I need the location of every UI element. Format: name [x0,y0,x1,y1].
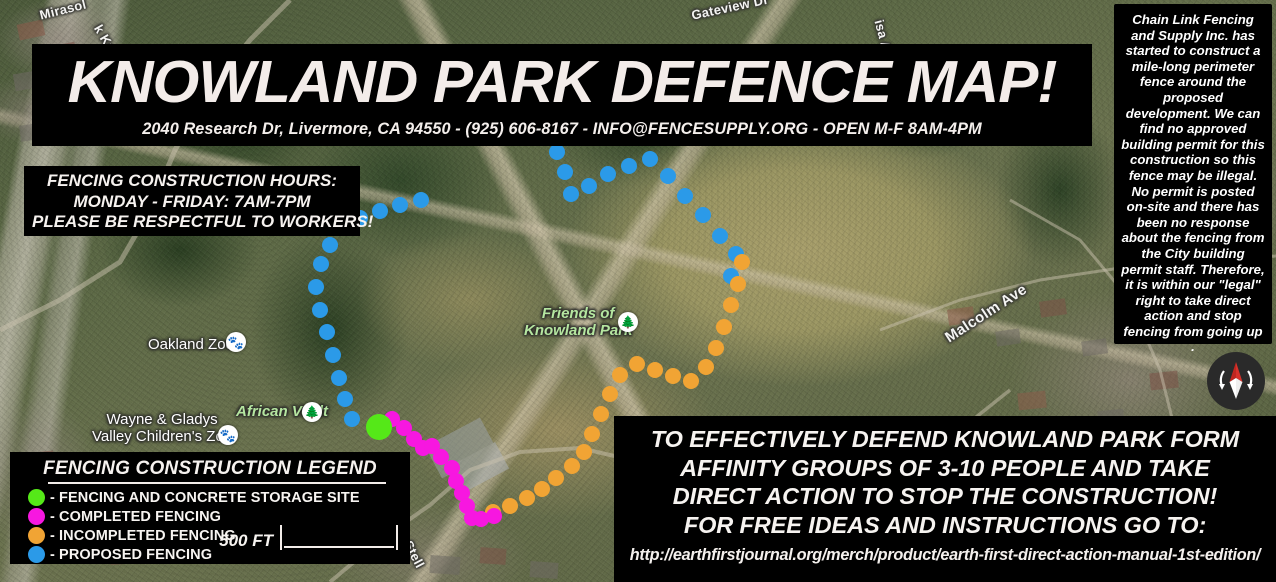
incompleted-fence-dot [716,319,732,335]
title-panel: KNOWLAND PARK DEFENCE MAP! 2040 Research… [32,44,1092,146]
permit-notice-panel: Chain Link Fencing and Supply Inc. has s… [1114,4,1272,344]
incompleted-fence-dot [730,276,746,292]
contact-subtitle: 2040 Research Dr, Livermore, CA 94550 - … [54,119,1071,139]
incompleted-fence-dot [519,490,535,506]
proposed-fence-dot [319,324,335,340]
call-to-action-panel: TO EFFECTIVELY DEFEND KNOWLAND PARK FORM… [614,416,1276,582]
proposed-fence-dot [712,228,728,244]
incompleted-fence-dot [629,356,645,372]
legend-title: FENCING CONSTRUCTION LEGEND [20,458,400,480]
proposed-fence-dot [313,256,329,272]
legend-divider [48,482,386,484]
proposed-fence-dot [392,197,408,213]
incompleted-fence-dot [584,426,600,442]
legend-item-proposed: - PROPOSED FENCING 500 FT [28,545,400,564]
cta-line-2: AFFINITY GROUPS OF 3-10 PEOPLE AND TAKE [624,454,1266,483]
legend-item-storage: - FENCING AND CONCRETE STORAGE SITE [28,488,400,507]
proposed-fence-dot [413,192,429,208]
scale-bar-line [284,546,394,548]
legend-label-completed: - COMPLETED FENCING [50,509,221,525]
proposed-fence-dot [600,166,616,182]
place-label-childrens-zoo: Wayne & Gladys Valley Children's Zoo [92,412,232,446]
proposed-fence-dot [325,347,341,363]
proposed-fence-dot [677,188,693,204]
incompleted-fence-dot [612,367,628,383]
legend-swatch-incompleted [28,527,45,544]
incompleted-fence-dot [665,368,681,384]
scale-bar-label: 500 FT [219,532,273,550]
scale-bar-graphic [280,525,398,550]
paw-icon: 🐾 [226,332,246,352]
place-label-friends-of-knowland-park: Friends of Knowland Park [524,306,632,340]
hours-line-3: PLEASE BE RESPECTFUL TO WORKERS! [32,212,352,233]
place-label-oakland-zoo: Oakland Zoo [148,336,234,353]
proposed-fence-dot [660,168,676,184]
permit-notice-text: Chain Link Fencing and Supply Inc. has s… [1120,12,1266,355]
completed-fence-dot [486,508,502,524]
incompleted-fence-dot [708,340,724,356]
paw-icon: 🐾 [218,425,238,445]
incompleted-fence-dot [548,470,564,486]
proposed-fence-dot [563,186,579,202]
legend-swatch-completed [28,508,45,525]
compass-rose[interactable] [1207,352,1265,410]
proposed-fence-dot [312,302,328,318]
tree-icon: 🌲 [618,312,638,332]
hours-line-1: FENCING CONSTRUCTION HOURS: [32,171,352,192]
cta-line-3: DIRECT ACTION TO STOP THE CONSTRUCTION! [624,482,1266,511]
proposed-fence-dot [642,151,658,167]
tree-icon: 🌲 [302,402,322,422]
proposed-fence-dot [322,237,338,253]
legend-panel: FENCING CONSTRUCTION LEGEND - FENCING AN… [10,452,410,564]
legend-label-proposed: - PROPOSED FENCING [50,547,212,563]
incompleted-fence-dot [564,458,580,474]
hours-line-2: MONDAY - FRIDAY: 7AM-7PM [32,192,352,213]
proposed-fence-dot [695,207,711,223]
proposed-fence-dot [344,411,360,427]
proposed-fence-dot [549,144,565,160]
legend-swatch-proposed [28,546,45,563]
incompleted-fence-dot [576,444,592,460]
construction-hours-panel: FENCING CONSTRUCTION HOURS: MONDAY - FRI… [24,166,360,236]
legend-label-incompleted: - INCOMPLETED FENCING [50,528,236,544]
incompleted-fence-dot [698,359,714,375]
scale-bar-cap-right [396,525,398,550]
proposed-fence-dot [621,158,637,174]
incompleted-fence-dot [593,406,609,422]
map-scale-bar: 500 FT [219,525,398,550]
legend-swatch-storage [28,489,45,506]
incompleted-fence-dot [602,386,618,402]
compass-needle-icon [1207,352,1265,410]
incompleted-fence-dot [647,362,663,378]
incompleted-fence-dot [683,373,699,389]
proposed-fence-dot [308,279,324,295]
legend-item-completed: - COMPLETED FENCING [28,507,400,526]
proposed-fence-dot [581,178,597,194]
proposed-fence-dot [331,370,347,386]
storage-site-dot [366,414,392,440]
incompleted-fence-dot [734,254,750,270]
incompleted-fence-dot [502,498,518,514]
scale-bar-cap-left [280,525,282,550]
incompleted-fence-dot [723,297,739,313]
cta-line-4: FOR FREE IDEAS AND INSTRUCTIONS GO TO: [624,511,1266,540]
proposed-fence-dot [337,391,353,407]
page-title: KNOWLAND PARK DEFENCE MAP! [36,46,1089,118]
proposed-fence-dot [372,203,388,219]
manual-url-link[interactable]: http://earthfirstjournal.org/merch/produ… [629,546,1261,565]
defence-map-poster: Mirasol k Knoll Blvd isa Ave Gateview Dr… [0,0,1276,582]
proposed-fence-dot [557,164,573,180]
legend-label-storage: - FENCING AND CONCRETE STORAGE SITE [50,490,360,506]
incompleted-fence-dot [534,481,550,497]
cta-line-1: TO EFFECTIVELY DEFEND KNOWLAND PARK FORM [624,425,1266,454]
